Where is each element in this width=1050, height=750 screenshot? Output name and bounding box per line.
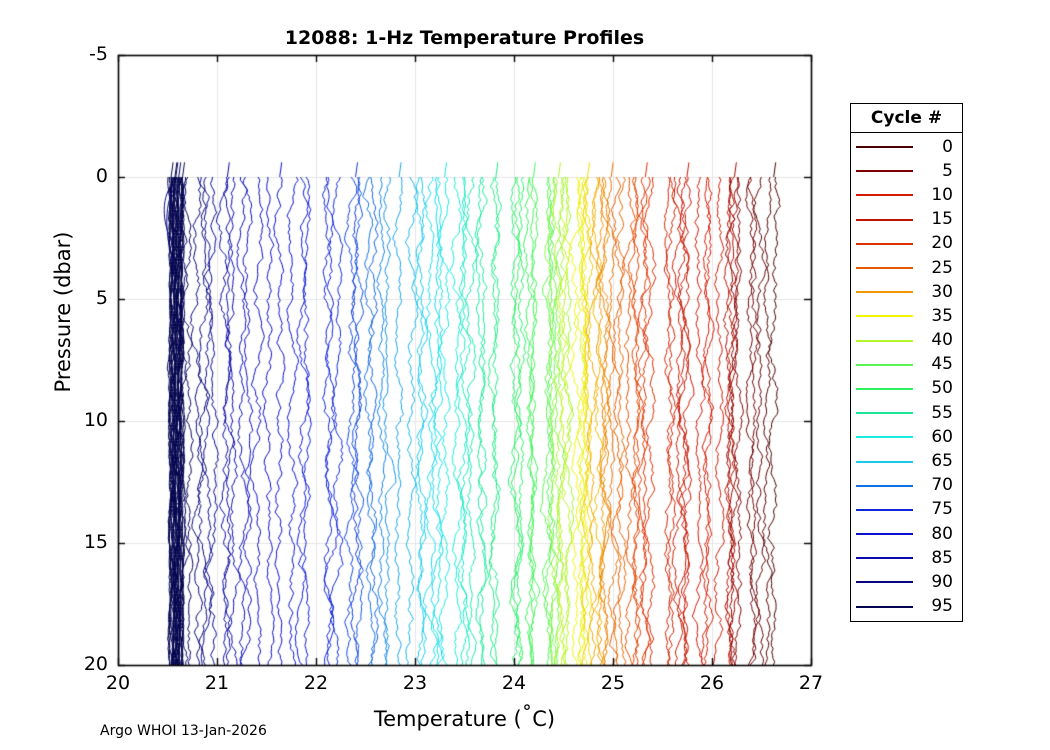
legend-item-label: 15	[913, 211, 962, 228]
legend-item[interactable]: 80	[851, 522, 962, 546]
x-tick-label: 23	[385, 672, 445, 694]
legend-box: Cycle # 05101520253035404550556065707580…	[850, 103, 963, 622]
legend-item-label: 25	[913, 260, 962, 277]
legend-item-label: 50	[913, 380, 962, 397]
legend-item-label: 90	[913, 574, 962, 591]
x-tick-label: 24	[484, 672, 544, 694]
legend-item-label: 5	[913, 163, 962, 180]
legend-color-swatch	[856, 267, 913, 269]
legend-item[interactable]: 85	[851, 546, 962, 570]
legend-color-swatch	[856, 194, 913, 196]
legend-item-label: 35	[913, 308, 962, 325]
legend-color-swatch	[856, 340, 913, 342]
legend-item-label: 30	[913, 284, 962, 301]
legend-color-swatch	[856, 533, 913, 535]
y-axis-label: Pressure (dbar)	[51, 202, 75, 422]
footer-note: Argo WHOI 13-Jan-2026	[100, 723, 267, 739]
legend-item[interactable]: 60	[851, 425, 962, 449]
legend-color-swatch	[856, 243, 913, 245]
legend-color-swatch	[856, 364, 913, 366]
legend-item-label: 65	[913, 453, 962, 470]
legend-color-swatch	[856, 557, 913, 559]
legend-item-label: 75	[913, 501, 962, 518]
legend-item[interactable]: 65	[851, 449, 962, 473]
x-tick-label: 26	[682, 672, 742, 694]
legend-item[interactable]: 75	[851, 498, 962, 522]
legend-item[interactable]: 0	[851, 135, 962, 159]
y-tick-label: 10	[48, 409, 108, 431]
legend-item-label: 10	[913, 187, 962, 204]
legend-item-label: 40	[913, 332, 962, 349]
legend-item-label: 85	[913, 550, 962, 567]
legend-item-label: 60	[913, 429, 962, 446]
legend-color-swatch	[856, 509, 913, 511]
legend-color-swatch	[856, 436, 913, 438]
legend-item-label: 20	[913, 235, 962, 252]
y-tick-label: 15	[48, 531, 108, 553]
legend-item[interactable]: 45	[851, 353, 962, 377]
legend-color-swatch	[856, 291, 913, 293]
legend-color-swatch	[856, 581, 913, 583]
legend-color-swatch	[856, 219, 913, 221]
legend-color-swatch	[856, 146, 913, 148]
legend-item-label: 45	[913, 356, 962, 373]
x-tick-label: 21	[187, 672, 247, 694]
legend-color-swatch	[856, 606, 913, 608]
x-axis-label-text: Temperature (	[374, 707, 522, 731]
legend-color-swatch	[856, 315, 913, 317]
degree-symbol: ˚	[522, 704, 533, 728]
legend-item[interactable]: 35	[851, 304, 962, 328]
legend-item-label: 0	[913, 139, 962, 156]
legend-item[interactable]: 50	[851, 377, 962, 401]
legend-item[interactable]: 55	[851, 401, 962, 425]
x-axis-label-unit: C)	[532, 707, 555, 731]
legend-color-swatch	[856, 412, 913, 414]
legend-item-label: 70	[913, 477, 962, 494]
legend-item[interactable]: 95	[851, 595, 962, 619]
legend-item[interactable]: 70	[851, 474, 962, 498]
figure-container: 12088: 1-Hz Temperature Profiles Tempera…	[0, 0, 1050, 750]
legend-item[interactable]: 25	[851, 256, 962, 280]
y-tick-label: -5	[48, 43, 108, 65]
legend-item-label: 80	[913, 526, 962, 543]
y-tick-label: 0	[48, 165, 108, 187]
legend-item[interactable]: 20	[851, 232, 962, 256]
legend-item-list: 05101520253035404550556065707580859095	[851, 133, 962, 619]
page-title: 12088: 1-Hz Temperature Profiles	[118, 27, 811, 49]
x-tick-label: 27	[781, 672, 841, 694]
legend-item[interactable]: 90	[851, 570, 962, 594]
x-tick-label: 22	[286, 672, 346, 694]
legend-item[interactable]: 40	[851, 329, 962, 353]
legend-title: Cycle #	[851, 104, 962, 133]
legend-item-label: 95	[913, 598, 962, 615]
legend-color-swatch	[856, 170, 913, 172]
x-tick-label: 25	[583, 672, 643, 694]
legend-color-swatch	[856, 461, 913, 463]
legend-item[interactable]: 15	[851, 208, 962, 232]
legend-item[interactable]: 10	[851, 183, 962, 207]
y-tick-label: 5	[48, 287, 108, 309]
y-tick-label: 20	[48, 653, 108, 675]
legend-color-swatch	[856, 485, 913, 487]
legend-item-label: 55	[913, 405, 962, 422]
legend-item[interactable]: 5	[851, 159, 962, 183]
x-tick-label: 20	[88, 672, 148, 694]
legend-color-swatch	[856, 388, 913, 390]
legend-item[interactable]: 30	[851, 280, 962, 304]
